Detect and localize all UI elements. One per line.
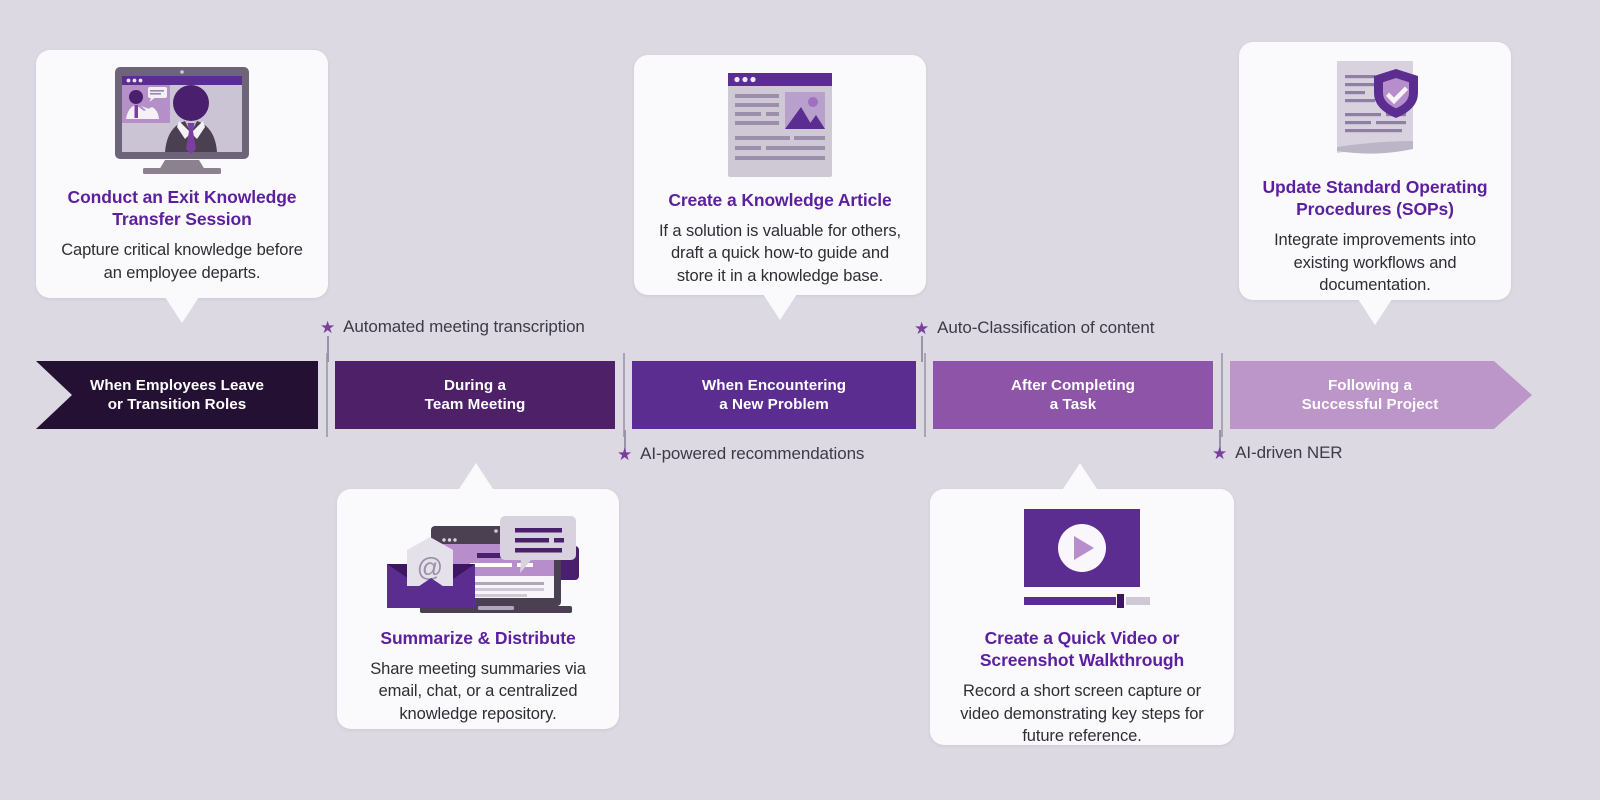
card-title: Create a Knowledge Article <box>652 189 908 211</box>
annotation-tick-2 <box>921 336 923 362</box>
card-title: Update Standard Operating Procedures (SO… <box>1257 176 1493 220</box>
stage-divider-3 <box>924 353 926 437</box>
card-pointer-quick-video <box>1063 463 1097 489</box>
stage-label: When Encountering a New Problem <box>702 376 846 415</box>
stage-segment-team-meeting[interactable]: During a Team Meeting <box>335 361 615 429</box>
stage-label: After Completing a Task <box>1011 376 1135 415</box>
card-title: Conduct an Exit Knowledge Transfer Sessi… <box>54 186 310 230</box>
annotation-label: Automated meeting transcription <box>343 317 585 337</box>
process-stage-bar: When Employees Leave or Transition Roles… <box>36 361 1532 429</box>
card-pointer-summarize <box>459 463 493 489</box>
stage-divider-1 <box>326 353 328 437</box>
stage-label: Following a Successful Project <box>1302 376 1439 415</box>
annotation-label: AI-powered recommendations <box>640 444 864 464</box>
stage-divider-4 <box>1221 353 1223 437</box>
document-shield-icon <box>1257 58 1493 166</box>
stage-label: When Employees Leave or Transition Roles <box>90 376 264 415</box>
card-pointer-exit-knowledge <box>165 297 199 323</box>
stage-divider-2 <box>623 353 625 437</box>
card-quick-video: Create a Quick Video or Screenshot Walkt… <box>930 489 1234 745</box>
annotation-label: AI-driven NER <box>1235 443 1342 463</box>
card-title: Create a Quick Video or Screenshot Walkt… <box>948 627 1216 671</box>
card-title: Summarize & Distribute <box>355 627 601 649</box>
stage-segment-after-task[interactable]: After Completing a Task <box>933 361 1213 429</box>
card-pointer-update-sop <box>1358 299 1392 325</box>
card-description: Record a short screen capture or video d… <box>948 680 1216 747</box>
annotation-automated-transcription: ★ Automated meeting transcription <box>320 317 585 337</box>
card-knowledge-article: Create a Knowledge Article If a solution… <box>634 55 926 295</box>
annotation-tick-1 <box>327 336 329 362</box>
annotation-ai-recommendations: ★ AI-powered recommendations <box>617 444 864 464</box>
star-icon: ★ <box>914 320 929 337</box>
star-icon: ★ <box>1212 445 1227 462</box>
annotation-auto-classification: ★ Auto-Classification of content <box>914 318 1154 338</box>
stage-segment-new-problem[interactable]: When Encountering a New Problem <box>632 361 916 429</box>
star-icon: ★ <box>320 319 335 336</box>
card-exit-knowledge-transfer: Conduct an Exit Knowledge Transfer Sessi… <box>36 50 328 298</box>
svg-text:@: @ <box>417 552 443 582</box>
annotation-label: Auto-Classification of content <box>937 318 1154 338</box>
video-player-icon <box>948 505 1216 617</box>
card-description: Integrate improvements into existing wor… <box>1257 229 1493 296</box>
laptop-email-chat-icon: @ <box>355 505 601 617</box>
stage-segment-successful-project[interactable]: Following a Successful Project <box>1230 361 1532 429</box>
video-conference-monitor-icon <box>54 66 310 176</box>
annotation-ai-driven-ner: ★ AI-driven NER <box>1212 443 1342 463</box>
stage-segment-employees-leave[interactable]: When Employees Leave or Transition Roles <box>36 361 318 429</box>
stage-label: During a Team Meeting <box>425 376 526 415</box>
card-summarize-distribute: @ Summarize & Distribute Share meeting s… <box>337 489 619 729</box>
infographic-canvas: Conduct an Exit Knowledge Transfer Sessi… <box>0 0 1600 800</box>
card-description: Share meeting summaries via email, chat,… <box>355 658 601 725</box>
card-update-sop: Update Standard Operating Procedures (SO… <box>1239 42 1511 300</box>
card-pointer-knowledge-article <box>763 294 797 320</box>
card-description: If a solution is valuable for others, dr… <box>652 220 908 287</box>
article-window-icon <box>652 71 908 179</box>
star-icon: ★ <box>617 446 632 463</box>
card-description: Capture critical knowledge before an emp… <box>54 239 310 284</box>
